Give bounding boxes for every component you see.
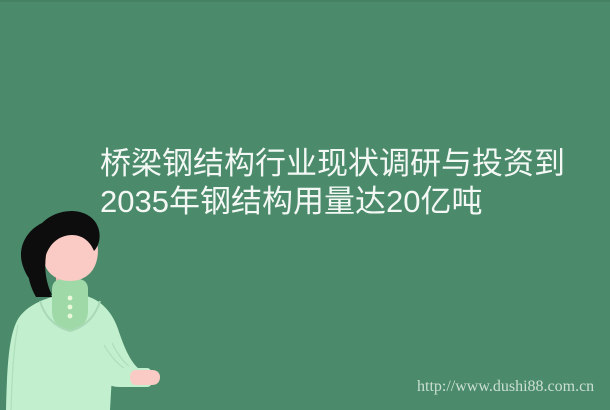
site-url-watermark: http://www.dushi88.com.cn bbox=[417, 377, 594, 397]
thumbnail-canvas: 桥梁钢结构行业现状调研与投资到 2035年钢结构用量达20亿吨 http://w… bbox=[0, 0, 610, 410]
collar-button-3 bbox=[68, 314, 73, 319]
person-illustration-svg bbox=[0, 205, 200, 410]
top-edge-divider bbox=[0, 0, 610, 2]
collar-button-1 bbox=[68, 296, 73, 301]
page-title: 桥梁钢结构行业现状调研与投资到 2035年钢结构用量达20亿吨 bbox=[100, 145, 600, 221]
person-illustration bbox=[0, 205, 200, 410]
collar-button-2 bbox=[68, 305, 73, 310]
page-title-line-2: 2035年钢结构用量达20亿吨 bbox=[100, 183, 600, 221]
hand bbox=[130, 370, 160, 385]
page-title-line-1: 桥梁钢结构行业现状调研与投资到 bbox=[100, 145, 600, 183]
